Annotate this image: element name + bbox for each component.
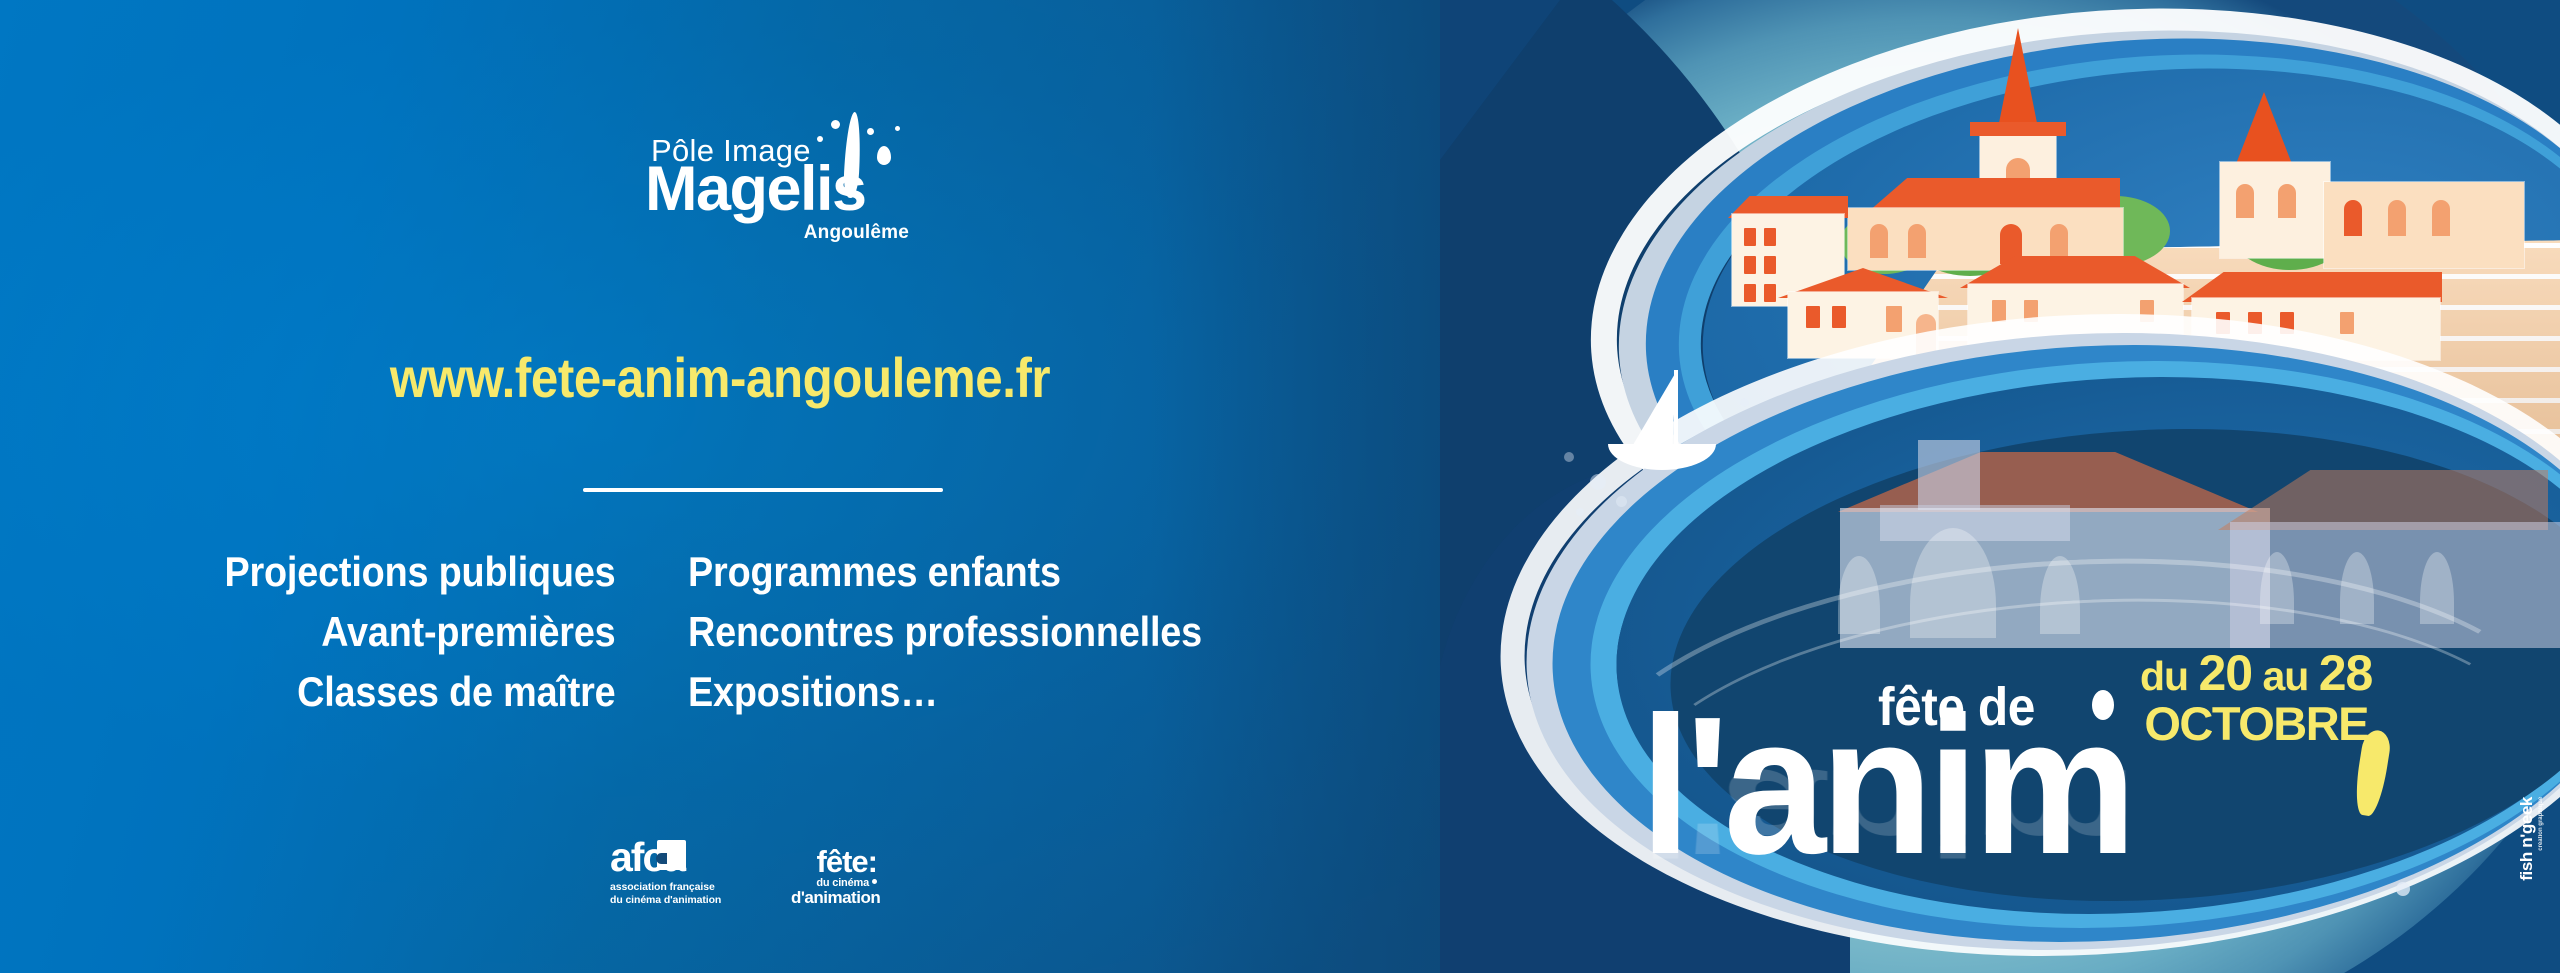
- splash-dot-icon: [831, 120, 840, 129]
- castle-window: [2432, 200, 2450, 236]
- castle-window: [2278, 184, 2296, 218]
- afca-notch-icon: [656, 853, 667, 864]
- house-window: [1992, 300, 2006, 322]
- program-item: Rencontres professionnelles: [688, 610, 1202, 654]
- afca-subtitle-line1: association française: [610, 881, 735, 894]
- building-window: [1764, 284, 1776, 302]
- bubble: [1616, 496, 1627, 507]
- building-window: [1744, 228, 1756, 246]
- bubble: [1590, 474, 1606, 490]
- building-window: [1764, 256, 1776, 274]
- fca-subtitle-line2: d'animation: [791, 889, 877, 907]
- splash-dot-icon: [817, 136, 823, 142]
- house-window: [1886, 306, 1902, 332]
- fca-dot-icon: [872, 879, 877, 884]
- building-window: [1744, 284, 1756, 302]
- fca-wordmark-text: fête: [817, 844, 868, 879]
- design-credit-studio: fish n'geek: [2517, 797, 2537, 881]
- afca-wordmark: afca: [610, 838, 684, 877]
- program-item: Classes de maître: [225, 670, 616, 714]
- fca-wordmark: fête:: [817, 848, 877, 876]
- title-main: l'anim: [1640, 702, 2131, 871]
- house-window: [2340, 312, 2354, 334]
- program-column-right: Programmes enfants Rencontres profession…: [688, 550, 1259, 714]
- divider-rule: [583, 488, 943, 492]
- castle-window: [2388, 200, 2406, 236]
- website-url[interactable]: www.fete-anim-angouleme.fr: [86, 345, 1353, 410]
- magelis-logo-city: Angoulême: [645, 223, 915, 242]
- event-title-block: l'anim fête de du 20 au 28 OCTOBRE l'ani…: [1640, 630, 2500, 970]
- program-item: Expositions…: [688, 670, 1202, 714]
- program-lists: Projections publiques Avant-premières Cl…: [0, 550, 1440, 714]
- castle-window: [2344, 200, 2362, 236]
- castle-turret-spire: [2236, 92, 2292, 164]
- event-dates-month: OCTOBRE: [2140, 700, 2372, 747]
- fca-colon: :: [868, 844, 877, 879]
- program-item: Projections publiques: [225, 550, 616, 594]
- design-credit: fish n'geek création graphique: [2517, 797, 2544, 881]
- design-credit-tagline: création graphique: [2538, 797, 2544, 881]
- ghost-building-chimney: [1918, 440, 1980, 510]
- building-window: [1764, 228, 1776, 246]
- afca-logo[interactable]: afca association française du cinéma d'a…: [610, 838, 735, 907]
- event-dates-line1: du 20 au 28: [2140, 648, 2372, 698]
- house-window: [1806, 306, 1820, 328]
- poster-banner: Pôle Image Magelis Angoulême www.fete-an…: [0, 0, 2560, 973]
- nave-window: [2050, 224, 2068, 258]
- magelis-logo-wordmark: Magelis: [645, 158, 915, 221]
- house-window: [1832, 306, 1846, 328]
- splash-drop-icon: [877, 146, 891, 165]
- bubble: [1740, 398, 1749, 407]
- splash-dot-icon: [895, 126, 900, 131]
- dates-day-end: 28: [2319, 645, 2373, 701]
- afca-subtitle-line2: du cinéma d'animation: [610, 894, 735, 907]
- dates-day-start: 20: [2198, 645, 2252, 701]
- splash-dot-icon: [867, 128, 874, 135]
- fete-cinema-animation-logo[interactable]: fête: du cinéma d'animation: [791, 848, 877, 907]
- magelis-wordmark-text: Magelis: [645, 154, 866, 224]
- dates-middle: au: [2252, 653, 2319, 699]
- nave-window: [1908, 224, 1926, 258]
- castle-window: [2236, 184, 2254, 218]
- partner-logos: afca association française du cinéma d'a…: [610, 838, 877, 907]
- bubble: [1564, 452, 1574, 462]
- program-item: Avant-premières: [225, 610, 616, 654]
- program-column-left: Projections publiques Avant-premières Cl…: [181, 550, 616, 714]
- nave-window: [1870, 224, 1888, 258]
- bubble: [1576, 508, 1584, 516]
- event-dates: du 20 au 28 OCTOBRE: [2140, 648, 2372, 747]
- magelis-logo: Pôle Image Magelis Angoulême: [645, 135, 915, 242]
- dates-prefix: du: [2140, 653, 2198, 699]
- cathedral-cornice: [1970, 122, 2066, 136]
- building-window: [1744, 256, 1756, 274]
- afca-subtitle: association française du cinéma d'animat…: [610, 881, 735, 907]
- program-item: Programmes enfants: [688, 550, 1202, 594]
